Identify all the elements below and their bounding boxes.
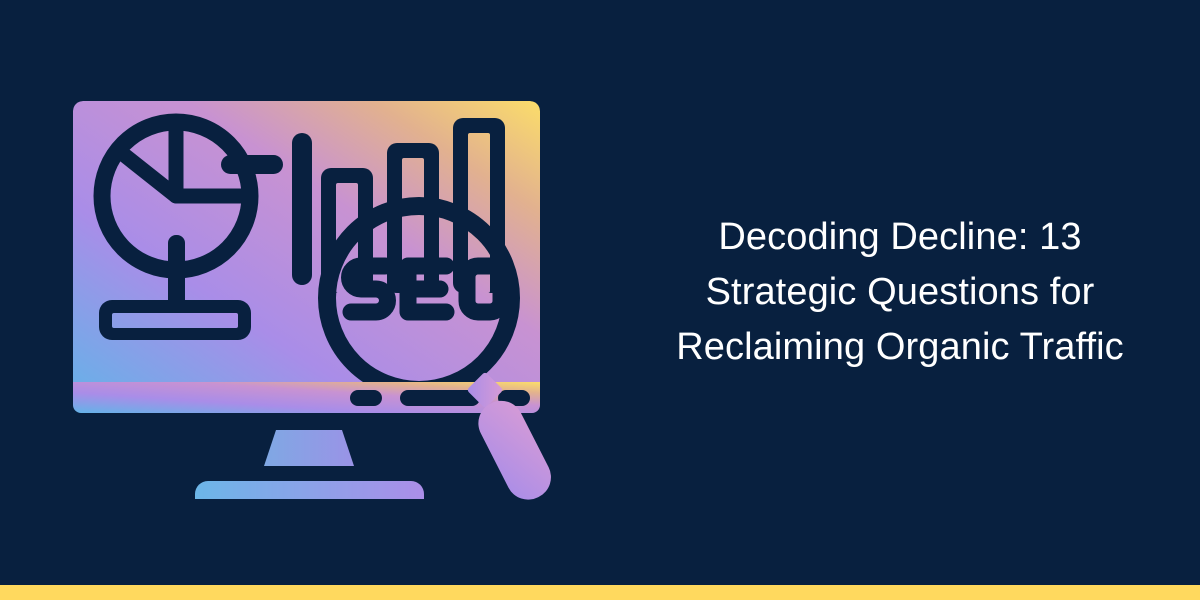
magnifier-lens bbox=[335, 214, 503, 382]
page-title: Decoding Decline: 13 Strategic Questions… bbox=[670, 210, 1130, 375]
monitor-stand bbox=[264, 430, 354, 466]
bottom-accent-bar bbox=[0, 585, 1200, 600]
slide-canvas: Decoding Decline: 13 Strategic Questions… bbox=[0, 0, 1200, 600]
headline-container: Decoding Decline: 13 Strategic Questions… bbox=[600, 0, 1200, 585]
monitor-base bbox=[195, 481, 424, 499]
monitor-bezel bbox=[73, 382, 540, 413]
seo-analytics-illustration bbox=[0, 0, 600, 585]
